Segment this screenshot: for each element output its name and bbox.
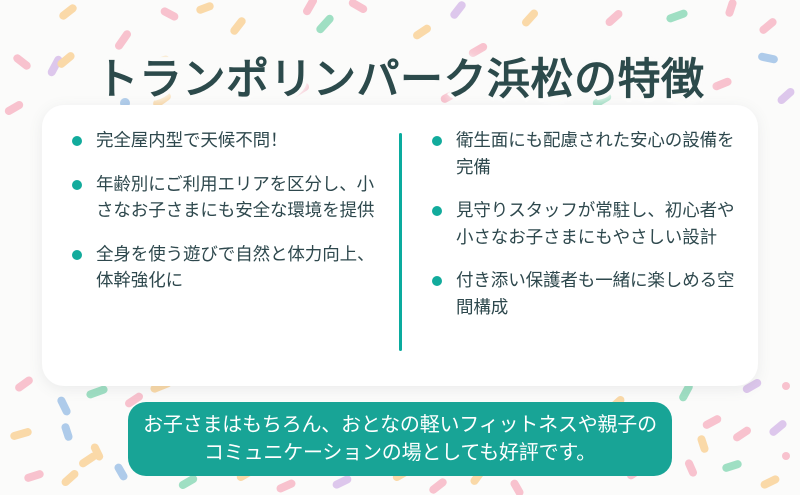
feature-column-left: 完全屋内型で天候不問！ 年齢別にご利用エリアを区分し、小さなお子さまにも安全な環… [42,105,400,386]
confetti-sprinkle [113,462,129,482]
confetti-sprinkle [449,0,468,20]
confetti-sprinkle [782,452,790,460]
list-item: 見守りスタッフが常駐し、初心者や小さなお子さまにもやさしい設計 [430,197,740,250]
list-item: 付き添い保護者も一緒に楽しめる空間構成 [430,267,740,320]
confetti-sprinkle [275,478,297,493]
list-item-label: 全身を使う遊びで自然と体力向上、体幹強化に [96,244,374,291]
column-divider [399,133,402,351]
confetti-sprinkle [85,384,108,399]
confetti-sprinkle [60,422,73,442]
confetti-sprinkle [428,477,449,495]
feature-column-right: 衛生面にも配慮された安心の設備を完備 見守りスタッフが常駐し、初心者や小さなお子… [400,105,758,386]
list-item-label: 衛生面にも配慮された安心の設備を完備 [456,130,734,177]
list-item: 年齢別にご利用エリアを区分し、小さなお子さまにも安全な環境を提供 [70,171,384,224]
infographic-canvas: トランポリンパーク浜松の特徴 完全屋内型で天候不問！ 年齢別にご利用エリアを区分… [0,0,800,495]
list-item-label: 年齢別にご利用エリアを区分し、小さなお子さまにも安全な環境を提供 [96,174,374,221]
bullet-dot-icon [72,180,82,190]
confetti-sprinkle [23,469,44,483]
confetti-sprinkle [77,451,98,469]
bullet-dot-icon [432,206,442,216]
confetti-sprinkle [724,0,737,18]
confetti-sprinkle [195,1,215,15]
page-title: トランポリンパーク浜松の特徴 [96,55,705,106]
bullet-dot-icon [72,250,82,260]
feature-list-right: 衛生面にも配慮された安心の設備を完備 見守りスタッフが常駐し、初心者や小さなお子… [430,127,740,321]
confetti-sprinkle [58,3,79,22]
confetti-sprinkle [89,442,104,462]
confetti-sprinkle [159,6,180,22]
confetti-sprinkle [9,427,32,441]
confetti-sprinkle [684,458,699,478]
confetti-sprinkle [759,474,780,490]
title-container: トランポリンパーク浜松の特徴 [0,26,800,134]
confetti-sprinkle [604,8,624,27]
confetti-sprinkle [701,414,722,430]
feature-list-left: 完全屋内型で天候不問！ 年齢別にご利用エリアを区分し、小さなお子さまにも安全な環… [70,127,384,294]
bullet-dot-icon [72,136,82,146]
bullet-dot-icon [432,136,442,146]
list-item-label: 付き添い保護者も一緒に楽しめる空間構成 [456,270,734,317]
summary-banner: お子さまはもちろん、おとなの軽いフィットネスや親子のコミュニケーションの場として… [128,402,672,476]
confetti-sprinkle [782,382,790,390]
bullet-dot-icon [432,276,442,286]
confetti-sprinkle [721,459,742,473]
confetti-sprinkle [56,395,72,416]
list-item: 衛生面にも配慮された安心の設備を完備 [430,127,740,180]
confetti-sprinkle [509,478,525,495]
confetti-sprinkle [665,8,688,23]
confetti-sprinkle [60,468,80,487]
confetti-sprinkle [696,434,709,454]
summary-banner-text: お子さまはもちろん、おとなの軽いフィットネスや親子のコミュニケーションの場として… [128,411,672,468]
confetti-sprinkle [302,0,319,17]
confetti-sprinkle [731,425,752,443]
list-item-label: 見守りスタッフが常駐し、初心者や小さなお子さまにもやさしい設計 [456,200,734,247]
list-item: 全身を使う遊びで自然と体力向上、体幹強化に [70,241,384,294]
confetti-sprinkle [347,0,368,14]
confetti-sprinkle [331,474,352,490]
confetti-sprinkle [177,474,198,491]
confetti-sprinkle [14,375,35,393]
confetti-sprinkle [768,419,788,438]
